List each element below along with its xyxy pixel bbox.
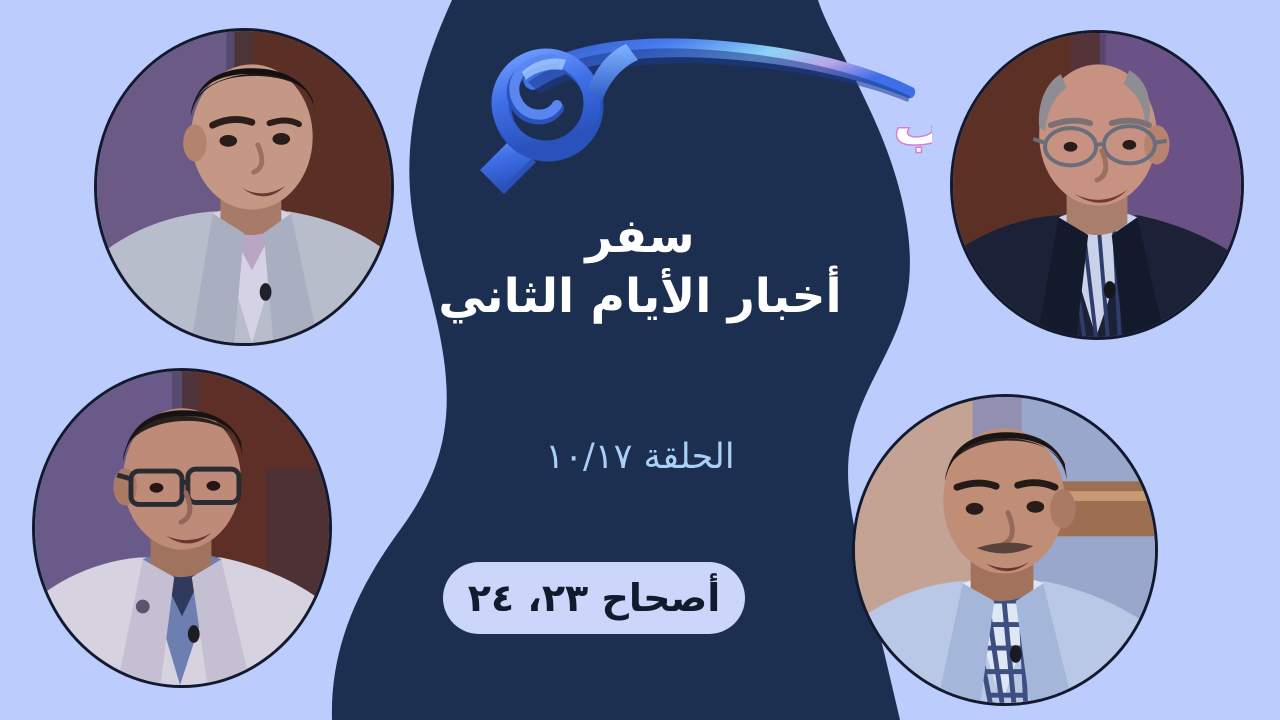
logo-wordmark: فاحصين الكتب xyxy=(894,97,932,157)
program-logo: فاحصين الكتب xyxy=(462,26,932,196)
page-title: سفر أخبار الأيام الثاني xyxy=(370,208,910,327)
chapter-badge: أصحاح ٢٣، ٢٤ xyxy=(443,562,745,634)
participant-avatar-bottom-left xyxy=(32,368,332,688)
participant-avatar-bottom-right xyxy=(852,394,1158,706)
title-line-2: أخبار الأيام الثاني xyxy=(370,266,910,327)
title-line-1: سفر xyxy=(370,208,910,266)
participant-avatar-top-right xyxy=(950,30,1244,340)
magnifying-glass-icon xyxy=(480,44,638,194)
logo-wordmark-text: فاحصين الكتب xyxy=(894,97,932,157)
episode-label: الحلقة ١٠/١٧ xyxy=(400,437,880,477)
thumbnail-canvas: فاحصين الكتب xyxy=(0,0,1280,720)
chapter-badge-label: أصحاح ٢٣، ٢٤ xyxy=(468,579,720,617)
participant-avatar-top-left xyxy=(94,28,394,346)
